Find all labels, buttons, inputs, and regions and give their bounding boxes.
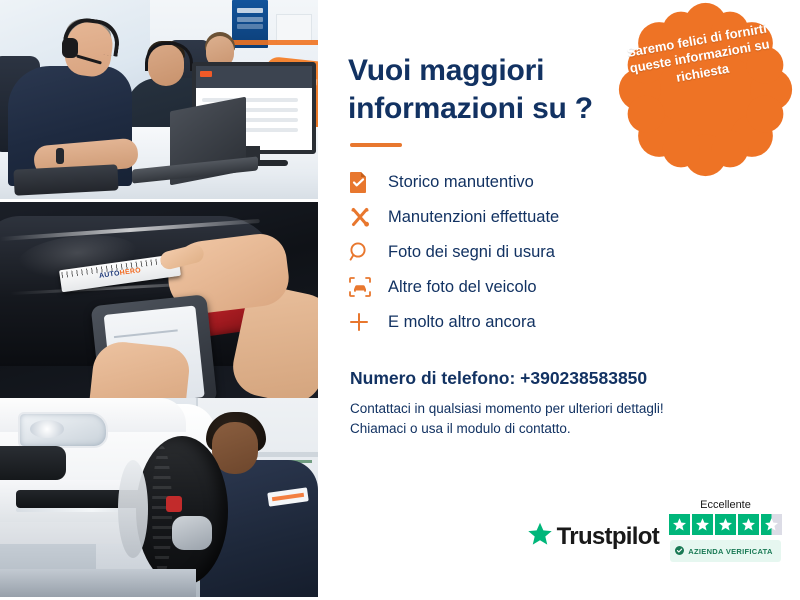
magnifier-icon	[348, 239, 378, 265]
red-tool	[166, 496, 182, 512]
car-lift-platform	[0, 569, 196, 597]
verified-label: AZIENDA VERIFICATA	[688, 547, 772, 556]
headline-line-2: informazioni su ?	[348, 92, 593, 125]
list-item: Manutenzioni effettuate	[348, 200, 800, 235]
contact-description-line-2: Chiamaci o usa il modulo di contatto.	[350, 421, 571, 436]
photo-strip: AUTOHERO	[0, 0, 318, 600]
trustpilot-widget[interactable]: Trustpilot Eccellente	[527, 499, 782, 562]
list-item-label: Storico manutentivo	[388, 173, 534, 192]
page-title: Vuoi maggiori informazioni su ?	[348, 52, 628, 129]
trustpilot-rating-word: Eccellente	[700, 499, 751, 511]
content-panel: Vuoi maggiori informazioni su ? Storico …	[318, 0, 800, 600]
star-icon	[669, 514, 690, 535]
contact-description: Contattaci in qualsiasi momento per ulte…	[350, 399, 770, 440]
trustpilot-brand-name: Trustpilot	[557, 523, 659, 551]
trustpilot-star-icon	[527, 521, 553, 552]
star-icon	[692, 514, 713, 535]
badge-content: Saremo felici di fornirti queste informa…	[604, 0, 800, 191]
list-item: Foto dei segni di usura	[348, 235, 800, 270]
wristwatch	[56, 148, 64, 164]
trustpilot-logo: Trustpilot	[527, 521, 659, 552]
list-item-label: Foto dei segni di usura	[388, 243, 555, 262]
agent2-headset-icon	[145, 42, 193, 71]
clipboard-check-icon	[348, 169, 378, 195]
trustpilot-rating-block: Eccellente	[669, 499, 782, 562]
desk-tablet	[13, 164, 118, 195]
title-divider	[350, 143, 402, 147]
wheel-rim	[118, 460, 148, 558]
car-wheel	[136, 436, 228, 586]
contact-description-line-1: Contattaci in qualsiasi momento per ulte…	[350, 401, 664, 416]
feature-list: Storico manutentivo Manutenzioni effettu…	[348, 165, 800, 340]
phone-number-title: Numero di telefono: +390238583850	[350, 368, 800, 389]
list-item: Altre foto del veicolo	[348, 270, 800, 305]
star-icon	[738, 514, 759, 535]
call-center-agents-photo	[0, 0, 318, 199]
car-scan-icon	[348, 274, 378, 300]
tools-wrench-screwdriver-icon	[348, 204, 378, 230]
monitor-accent	[200, 71, 212, 77]
star-icon	[715, 514, 736, 535]
list-item: E molto altro ancora	[348, 305, 800, 340]
list-item-label: Altre foto del veicolo	[388, 278, 537, 297]
monitor-header-bar	[196, 66, 312, 88]
mechanic-glove	[172, 516, 212, 550]
autohero-ruler-inspection-photo: AUTOHERO	[0, 202, 318, 398]
verified-company-badge: AZIENDA VERIFICATA	[670, 540, 780, 562]
plus-icon	[348, 309, 378, 335]
list-item-label: E molto altro ancora	[388, 313, 536, 332]
tablet-line	[114, 329, 178, 338]
car-headlight	[18, 412, 108, 448]
headline-line-1: Vuoi maggiori	[348, 54, 544, 87]
star-half-icon	[761, 514, 782, 535]
promo-banner: AUTOHERO	[0, 0, 800, 600]
mechanic-wheel-inspection-photo	[0, 398, 318, 597]
list-item-label: Manutenzioni effettuate	[388, 208, 559, 227]
wall-orange-band	[228, 40, 318, 45]
trustpilot-stars	[669, 514, 782, 535]
info-badge: Saremo felici di fornirti queste informa…	[618, 2, 793, 177]
car-grille	[0, 446, 66, 480]
check-circle-icon	[675, 542, 684, 560]
